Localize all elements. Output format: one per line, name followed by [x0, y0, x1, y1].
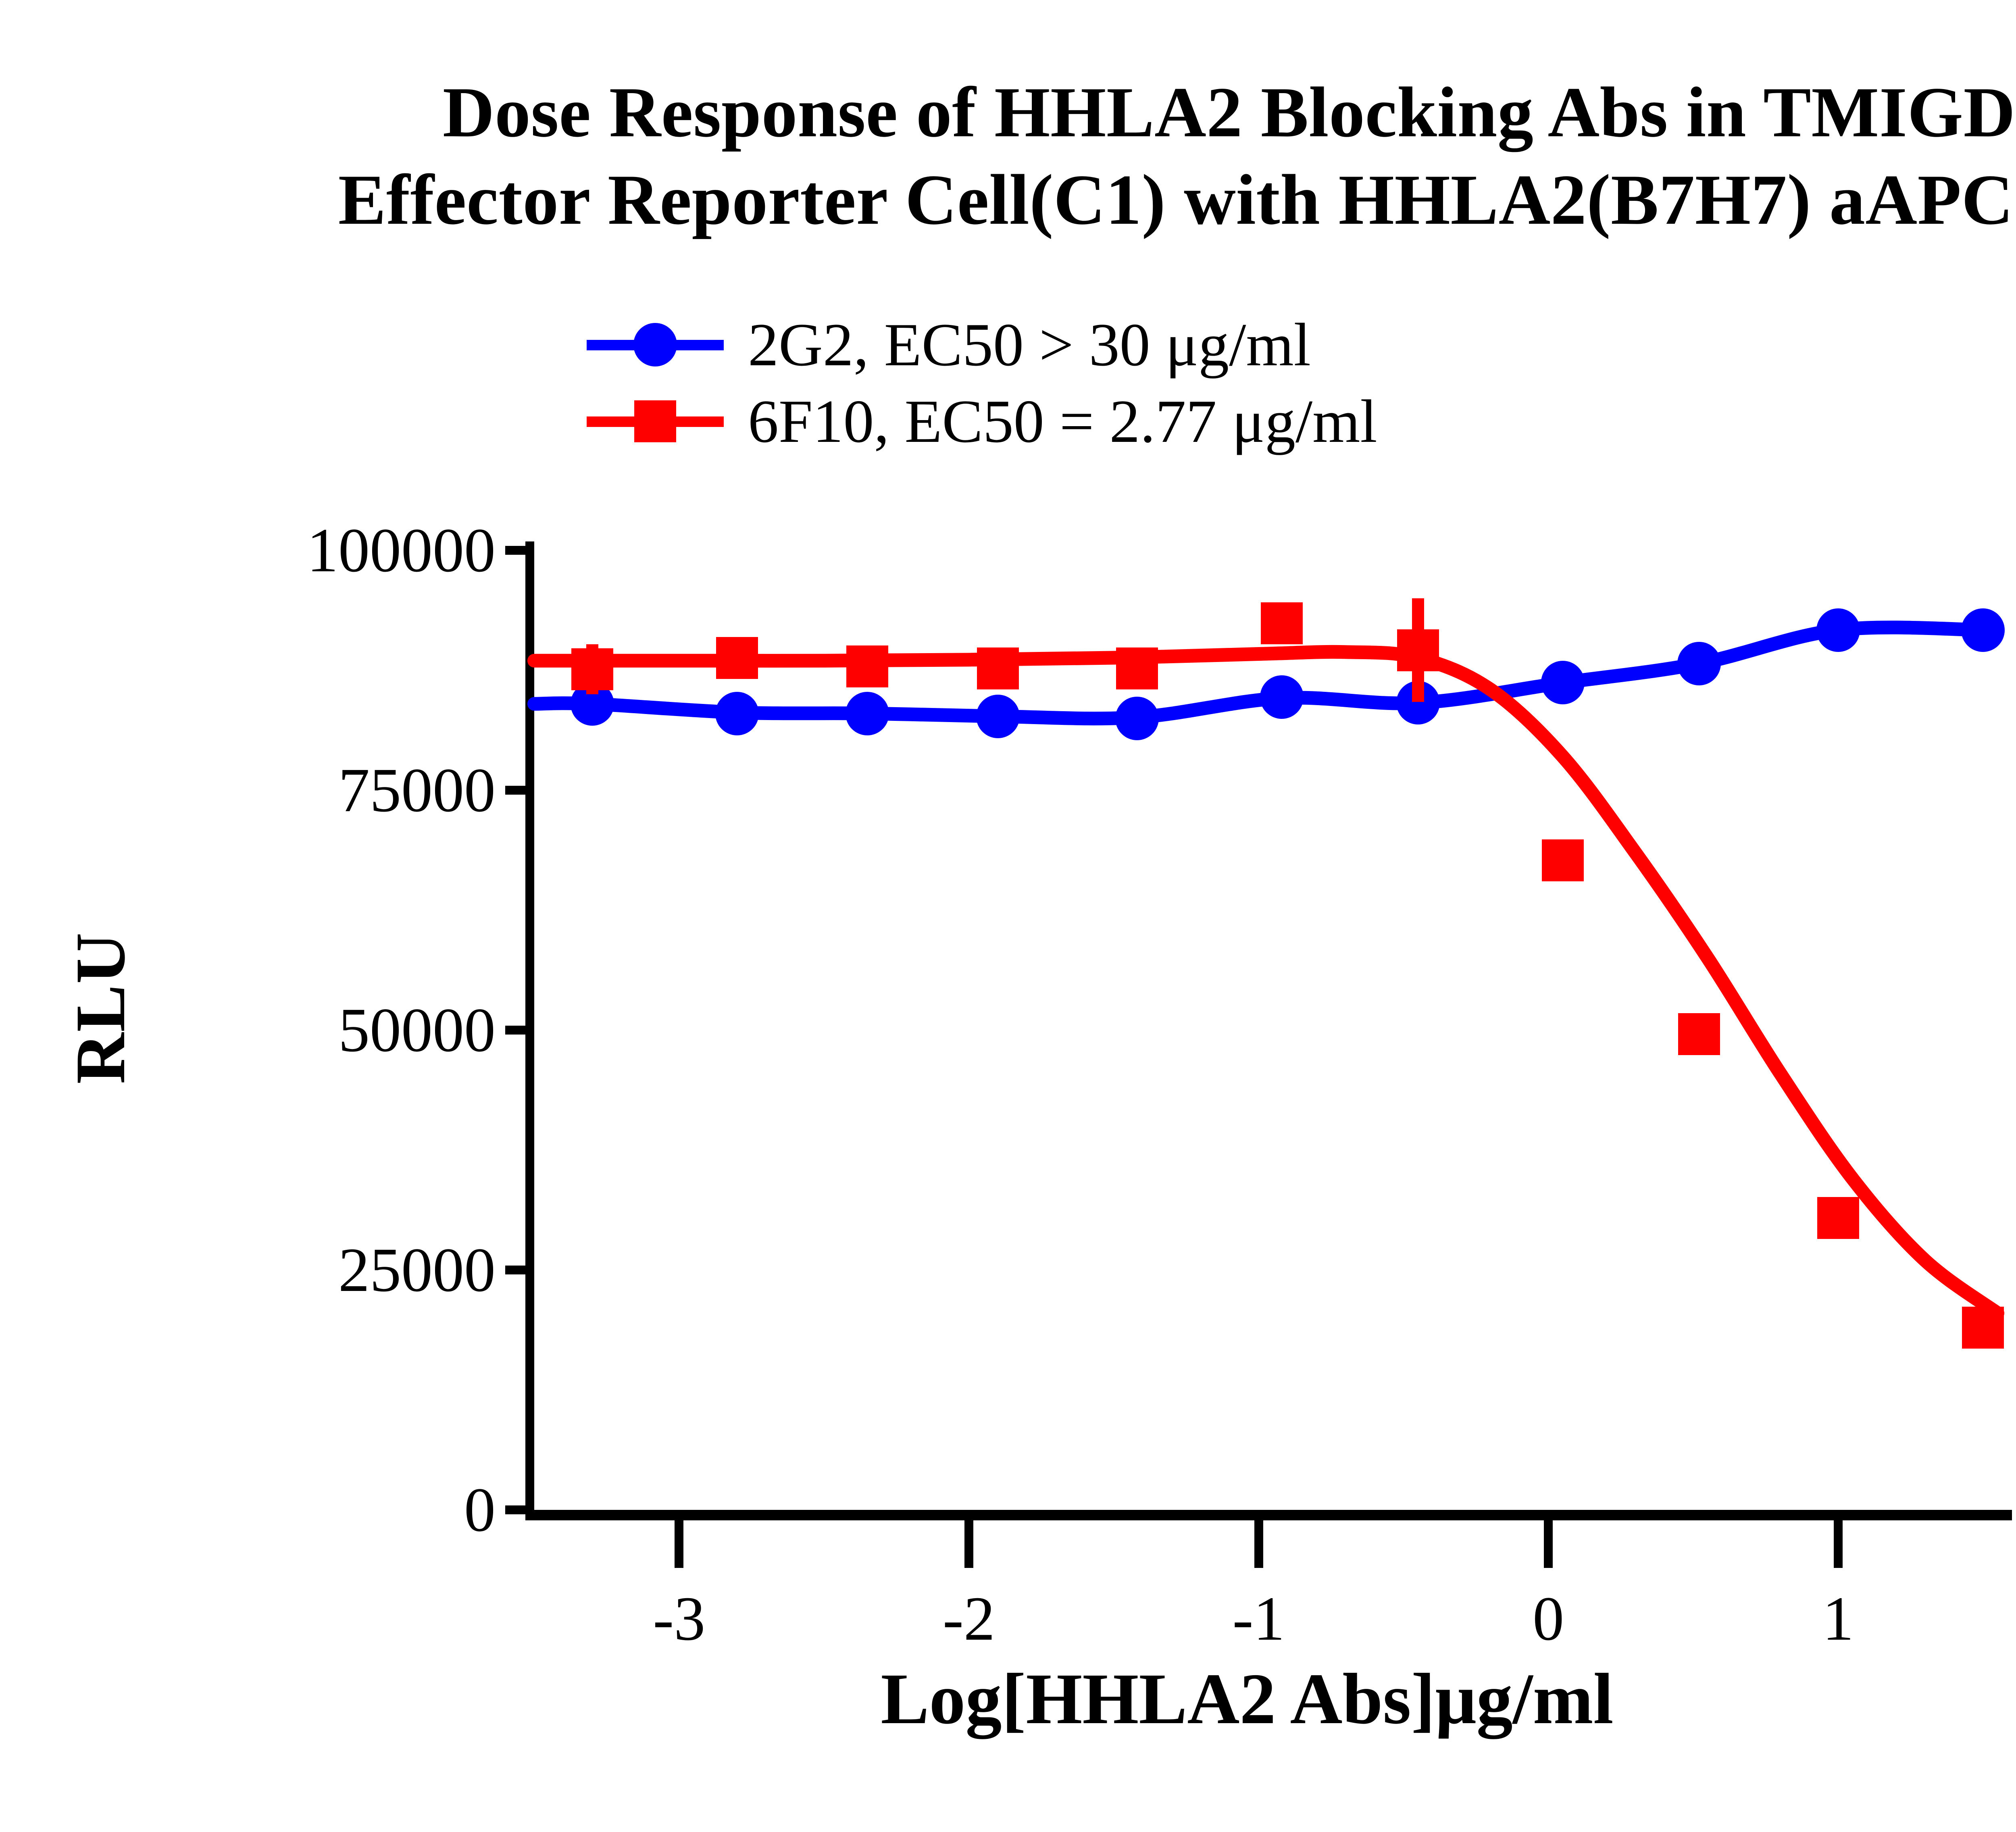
chart-title: Dose Response of HHLA2 Blocking Abs in T…	[0, 69, 2016, 244]
chart-legend: 2G2, EC50 > 30 μg/ml 6F10, EC50 = 2.77 μ…	[587, 306, 1377, 460]
chart-title-line1: Dose Response of HHLA2 Blocking Abs in T…	[443, 72, 2016, 152]
data-point-square	[716, 637, 758, 679]
y-tick-mark	[505, 1266, 534, 1274]
legend-item-6f10: 6F10, EC50 = 2.77 μg/ml	[587, 383, 1377, 460]
data-point-square	[1397, 629, 1439, 671]
data-point-circle	[846, 692, 889, 735]
y-tick-mark	[505, 1026, 534, 1035]
data-point-circle	[715, 692, 759, 735]
chart-title-line2: Effector Reporter Cell(C1) with HHLA2(B7…	[0, 156, 2016, 244]
data-point-circle	[976, 695, 1020, 738]
legend-marker-square-icon	[634, 400, 676, 442]
data-point-square	[977, 647, 1019, 689]
data-point-circle	[1677, 642, 1721, 685]
x-tick-mark	[1834, 1520, 1843, 1568]
legend-item-2g2: 2G2, EC50 > 30 μg/ml	[587, 306, 1377, 383]
y-tick-label: 50000	[338, 994, 496, 1066]
x-tick-mark	[1254, 1520, 1263, 1568]
plot-area: 0250005000075000100000-3-2-101	[534, 550, 2012, 1510]
chart-page: Dose Response of HHLA2 Blocking Abs in T…	[0, 0, 2016, 1832]
legend-key-2g2	[587, 325, 724, 365]
x-axis-title: Log[HHLA2 Abs]μg/ml	[0, 1657, 2016, 1740]
y-tick-label: 75000	[338, 754, 496, 826]
legend-key-6f10	[587, 401, 724, 441]
data-point-square	[1261, 602, 1303, 644]
x-tick-mark	[964, 1520, 973, 1568]
legend-marker-circle-icon	[633, 323, 677, 366]
data-point-square	[1817, 1197, 1859, 1239]
x-tick-mark	[1544, 1520, 1553, 1568]
y-tick-mark	[505, 546, 534, 555]
data-point-square	[1542, 839, 1584, 881]
x-tick-label: -3	[653, 1582, 705, 1655]
data-point-circle	[1115, 697, 1159, 740]
data-point-square	[1116, 647, 1158, 689]
legend-label-2g2: 2G2, EC50 > 30 μg/ml	[724, 314, 1311, 375]
data-point-circle	[1541, 661, 1585, 704]
data-point-circle	[1961, 608, 2005, 652]
data-point-square	[1962, 1307, 2004, 1349]
y-axis-title: RLU	[60, 932, 142, 1084]
x-tick-label: -2	[943, 1582, 995, 1655]
x-tick-label: -1	[1233, 1582, 1285, 1655]
data-point-circle	[1816, 608, 1860, 652]
data-points-layer	[534, 550, 2012, 1510]
x-axis-line	[525, 1510, 2012, 1520]
legend-label-6f10: 6F10, EC50 = 2.77 μg/ml	[724, 391, 1377, 452]
y-tick-label: 25000	[338, 1234, 496, 1306]
x-tick-mark	[675, 1520, 683, 1568]
y-tick-mark	[505, 786, 534, 795]
y-tick-label: 100000	[307, 514, 496, 587]
data-point-square	[1678, 1013, 1720, 1055]
data-point-square	[571, 648, 613, 690]
x-tick-label: 0	[1533, 1582, 1564, 1655]
y-tick-mark	[505, 1505, 534, 1514]
x-tick-label: 1	[1822, 1582, 1854, 1655]
data-point-circle	[1260, 675, 1304, 719]
data-point-square	[846, 645, 888, 687]
y-tick-label: 0	[464, 1474, 496, 1546]
